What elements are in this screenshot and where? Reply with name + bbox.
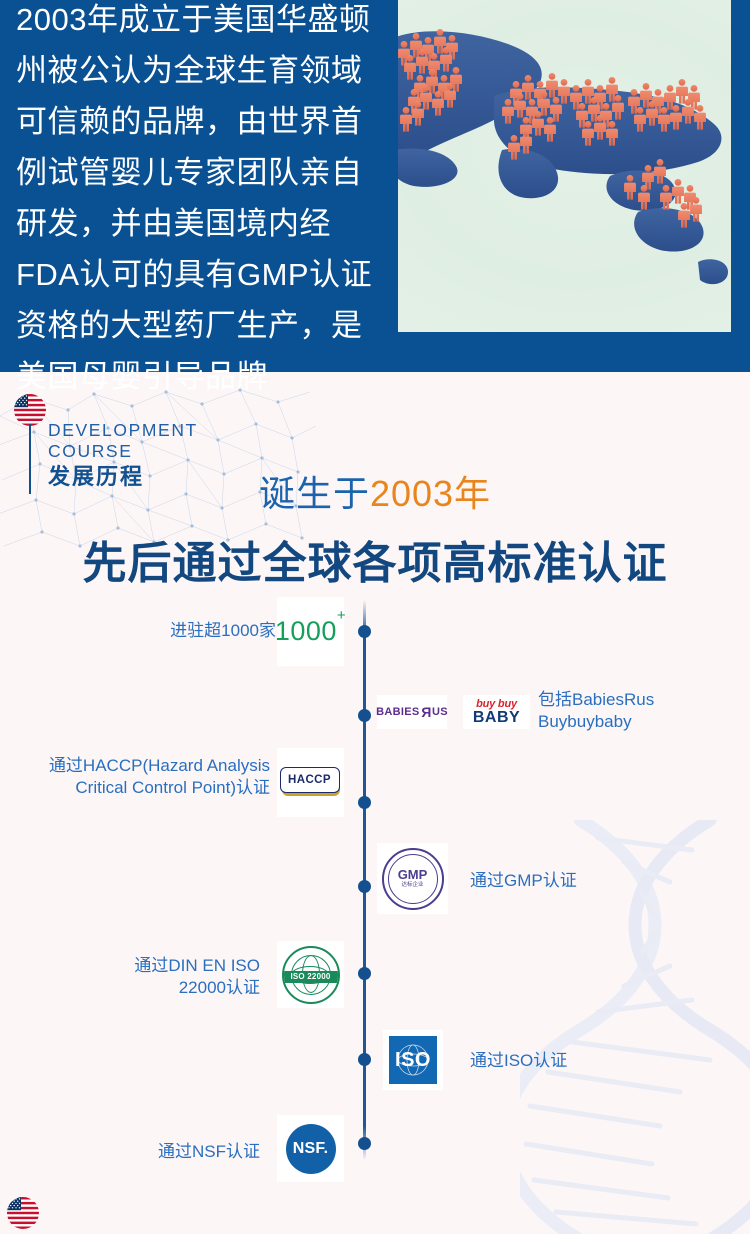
babiesrus-logo-box: BABIESRUS (377, 695, 447, 729)
timeline-caption-iso: 通过ISO认证 (470, 1050, 690, 1072)
nsf-logo-box: NSF. (277, 1115, 344, 1182)
timeline-dot (358, 625, 371, 638)
us-flag-icon (14, 394, 46, 426)
count-badge-logo-box: 1000+ (277, 597, 344, 666)
gmp-seal-logo: GMP 达标企业 (382, 848, 444, 910)
iso-logo-box: ISO (383, 1030, 443, 1090)
timeline-caption-nsf: 通过NSF认证 (110, 1141, 260, 1163)
brand-intro-paragraph: 2003年成立于美国华盛顿州被公认为全球生育领域可信赖的品牌，由世界首例试管婴儿… (16, 0, 390, 402)
iso22000-logo-text: ISO 22000 (282, 971, 340, 983)
timeline-dot (358, 880, 371, 893)
nsf-logo-text: NSF. (293, 1140, 328, 1158)
pharmacy-count-badge: 1000+ (275, 616, 346, 647)
babiesrus-logo: BABIESRUS (376, 704, 448, 720)
nsf-logo: NSF. (286, 1124, 336, 1174)
buybuybaby-logo-box: buy buy BABY (463, 695, 530, 729)
haccp-logo-box: HACCP (277, 748, 344, 817)
timeline-caption-pharmacies: 进驻超1000家药店 (60, 620, 310, 642)
footer-us-flag-pin (7, 1197, 41, 1234)
timeline-dot (358, 709, 371, 722)
page-subtitle: 诞生于2003年 (0, 465, 750, 517)
timeline-dot (358, 967, 371, 980)
haccp-logo-text: HACCP (280, 767, 340, 793)
timeline-caption-iso22000: 通过DIN EN ISO 22000认证 (60, 955, 260, 999)
world-map-people-photo (398, 0, 731, 332)
page-title: 先后通过全球各项高标准认证 (0, 527, 750, 591)
world-map-illustration (398, 0, 731, 332)
subtitle-year: 2003年 (370, 473, 491, 514)
gmp-logo-box: GMP 达标企业 (377, 843, 448, 914)
gmp-logo-subtext: 达标企业 (398, 882, 428, 889)
haccp-logo: HACCP (280, 767, 342, 799)
subtitle-prefix: 诞生于 (259, 473, 370, 514)
page-root: 2003年成立于美国华盛顿州被公认为全球生育领域可信赖的品牌，由世界首例试管婴儿… (0, 0, 750, 1234)
iso-logo-text: ISO (395, 1049, 431, 1072)
timeline-caption-gmp: 通过GMP认证 (470, 870, 690, 892)
eyebrow-en: DEVELOPMENT COURSE (48, 420, 198, 462)
gmp-logo-text: GMP (398, 868, 428, 881)
timeline-dot (358, 1053, 371, 1066)
iso22000-logo-box: ISO 22000 (277, 941, 344, 1008)
timeline-caption-haccp: 通过HACCP(Hazard Analysis Critical Control… (10, 755, 270, 799)
timeline-dot (358, 1137, 371, 1150)
timeline-caption-retailers: 包括BabiesRus Buybuybaby (538, 689, 748, 733)
timeline-dot (358, 796, 371, 809)
top-blue-banner: 2003年成立于美国华盛顿州被公认为全球生育领域可信赖的品牌，由世界首例试管婴儿… (0, 0, 750, 372)
us-flag-icon (7, 1197, 39, 1229)
iso-logo: ISO (389, 1036, 437, 1084)
iso22000-logo: ISO 22000 (282, 946, 340, 1004)
buybuybaby-logo: buy buy BABY (473, 699, 520, 726)
